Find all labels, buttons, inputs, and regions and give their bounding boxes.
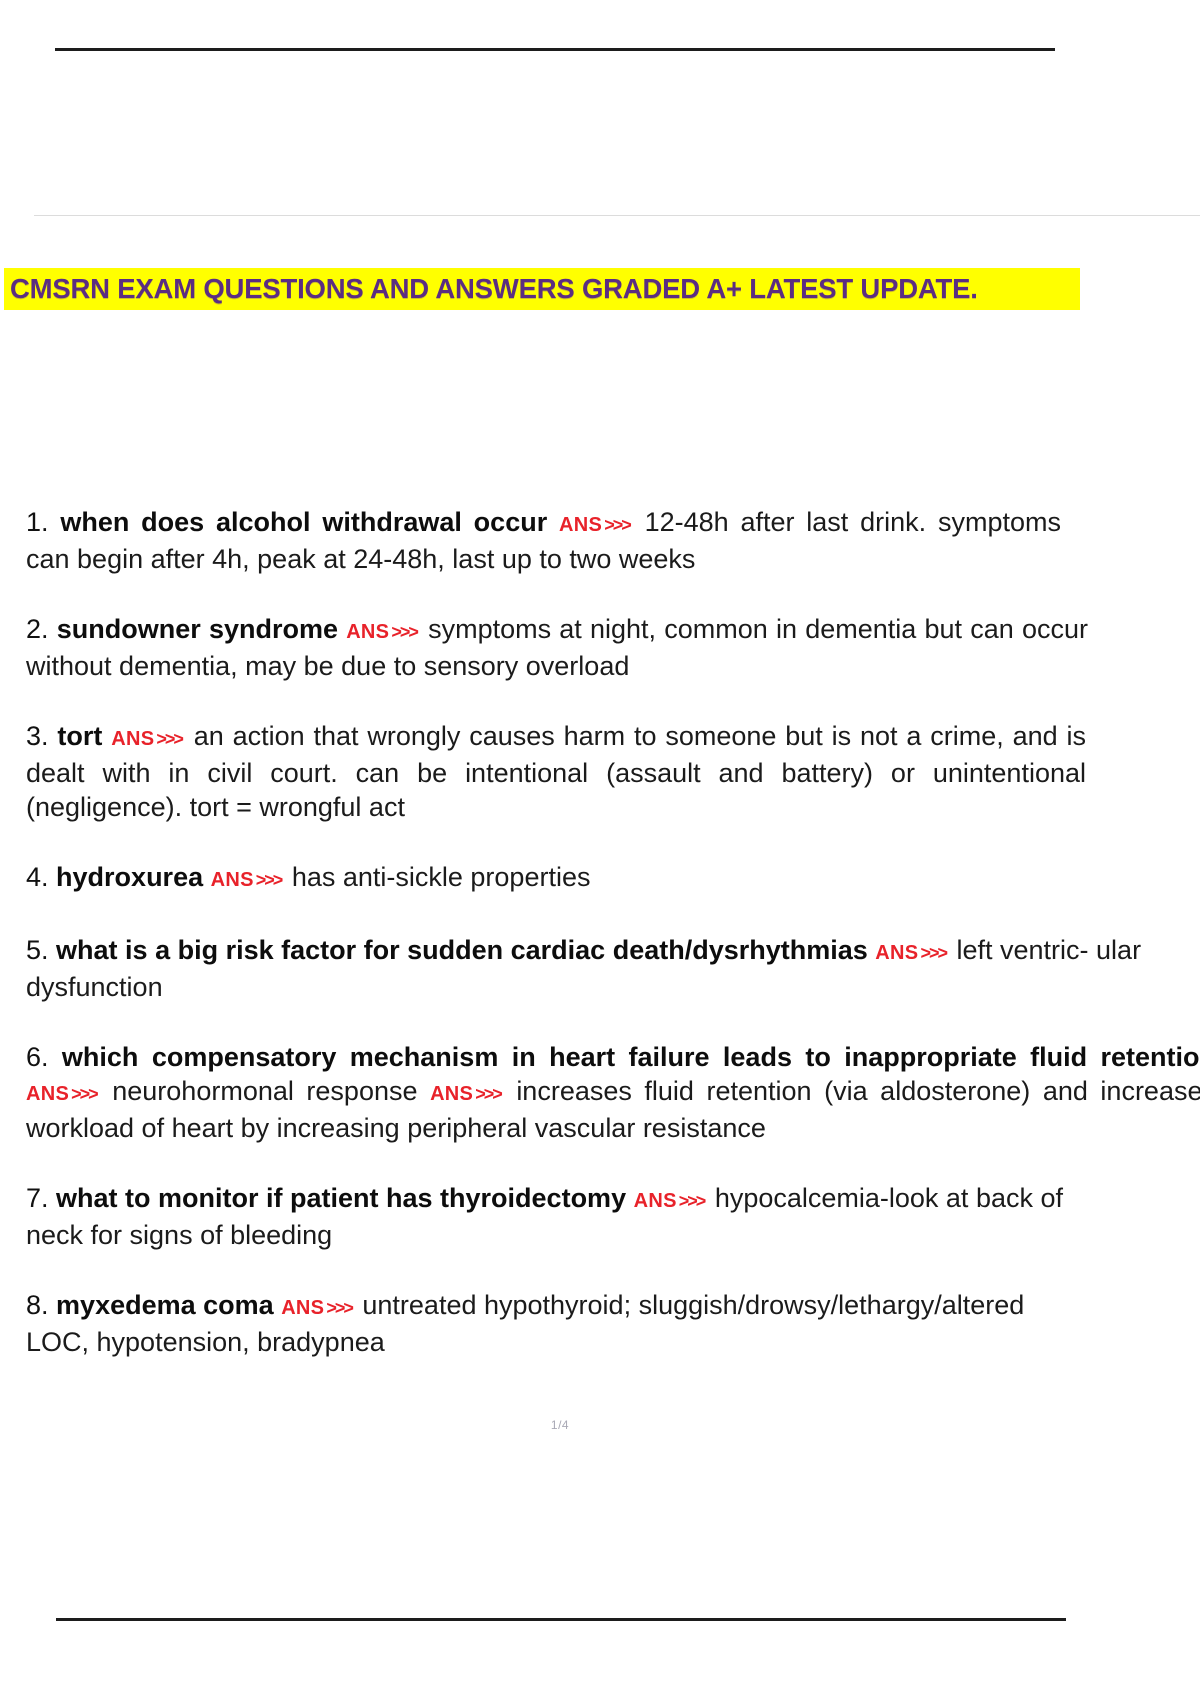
qa-item: 6. which compensatory mechanism in heart…: [26, 1040, 1200, 1145]
qa-item: 7. what to monitor if patient has thyroi…: [26, 1181, 1116, 1252]
answer-arrow-icon: >>>: [154, 729, 185, 749]
qa-number: 6.: [26, 1042, 49, 1072]
qa-question: when does alcohol withdrawal occur: [60, 507, 547, 537]
answer-arrow-icon: >>>: [918, 943, 949, 963]
qa-question: sundowner syndrome: [57, 614, 338, 644]
footer-divider-rule: [56, 1618, 1066, 1621]
header-divider-rule: [55, 48, 1055, 51]
qa-answer: neurohormonal response: [112, 1076, 417, 1106]
qa-item: 4. hydroxurea ANS>>> has anti-sickle pro…: [26, 860, 1061, 897]
page-title: CMSRN EXAM QUESTIONS AND ANSWERS GRADED …: [10, 275, 978, 303]
document-title-banner: CMSRN EXAM QUESTIONS AND ANSWERS GRADED …: [4, 268, 1080, 310]
qa-question: myxedema coma: [56, 1290, 274, 1320]
answer-label: ANS: [634, 1190, 677, 1212]
answer-label-secondary: ANS: [430, 1083, 473, 1105]
answer-label: ANS: [281, 1297, 324, 1319]
qa-question: tort: [57, 721, 102, 751]
answer-arrow-icon: >>>: [69, 1084, 100, 1104]
answer-label: ANS: [346, 621, 389, 643]
answer-arrow-icon-secondary: >>>: [473, 1084, 504, 1104]
section-divider-rule: [34, 215, 1200, 216]
qa-question: which compensatory mechanism in heart fa…: [62, 1042, 1200, 1072]
answer-label: ANS: [211, 869, 254, 891]
qa-item: 8. myxedema coma ANS>>> untreated hypoth…: [26, 1288, 1086, 1359]
answer-label: ANS: [111, 728, 154, 750]
qa-number: 8.: [26, 1290, 49, 1320]
qa-number: 2.: [26, 614, 49, 644]
answer-arrow-icon: >>>: [324, 1298, 355, 1318]
qa-item: 1. when does alcohol withdrawal occur AN…: [26, 505, 1061, 576]
document-page: CMSRN EXAM QUESTIONS AND ANSWERS GRADED …: [0, 0, 1200, 1700]
answer-arrow-icon: >>>: [389, 622, 420, 642]
qa-item: 5. what is a big risk factor for sudden …: [26, 933, 1151, 1004]
page-number-marker: 1/4: [0, 1418, 1120, 1432]
qa-number: 3.: [26, 721, 49, 751]
answer-arrow-icon: >>>: [677, 1191, 708, 1211]
qa-question: what is a big risk factor for sudden car…: [56, 935, 868, 965]
qa-list: 1. when does alcohol withdrawal occur AN…: [26, 505, 1200, 1395]
qa-item: 2. sundowner syndrome ANS>>> symptoms at…: [26, 612, 1088, 683]
qa-item: 3. tort ANS>>> an action that wrongly ca…: [26, 719, 1086, 824]
qa-question: what to monitor if patient has thyroidec…: [56, 1183, 626, 1213]
qa-number: 7.: [26, 1183, 49, 1213]
answer-arrow-icon: >>>: [254, 870, 285, 890]
answer-arrow-icon: >>>: [602, 515, 633, 535]
qa-answer: has anti-sickle properties: [292, 862, 591, 892]
qa-number: 4.: [26, 862, 49, 892]
qa-number: 5.: [26, 935, 49, 965]
answer-label: ANS: [559, 514, 602, 536]
qa-question: hydroxurea: [56, 862, 203, 892]
answer-label: ANS: [875, 942, 918, 964]
qa-answer: an action that wrongly causes harm to so…: [26, 721, 1086, 822]
qa-number: 1.: [26, 507, 49, 537]
answer-label: ANS: [26, 1083, 69, 1105]
